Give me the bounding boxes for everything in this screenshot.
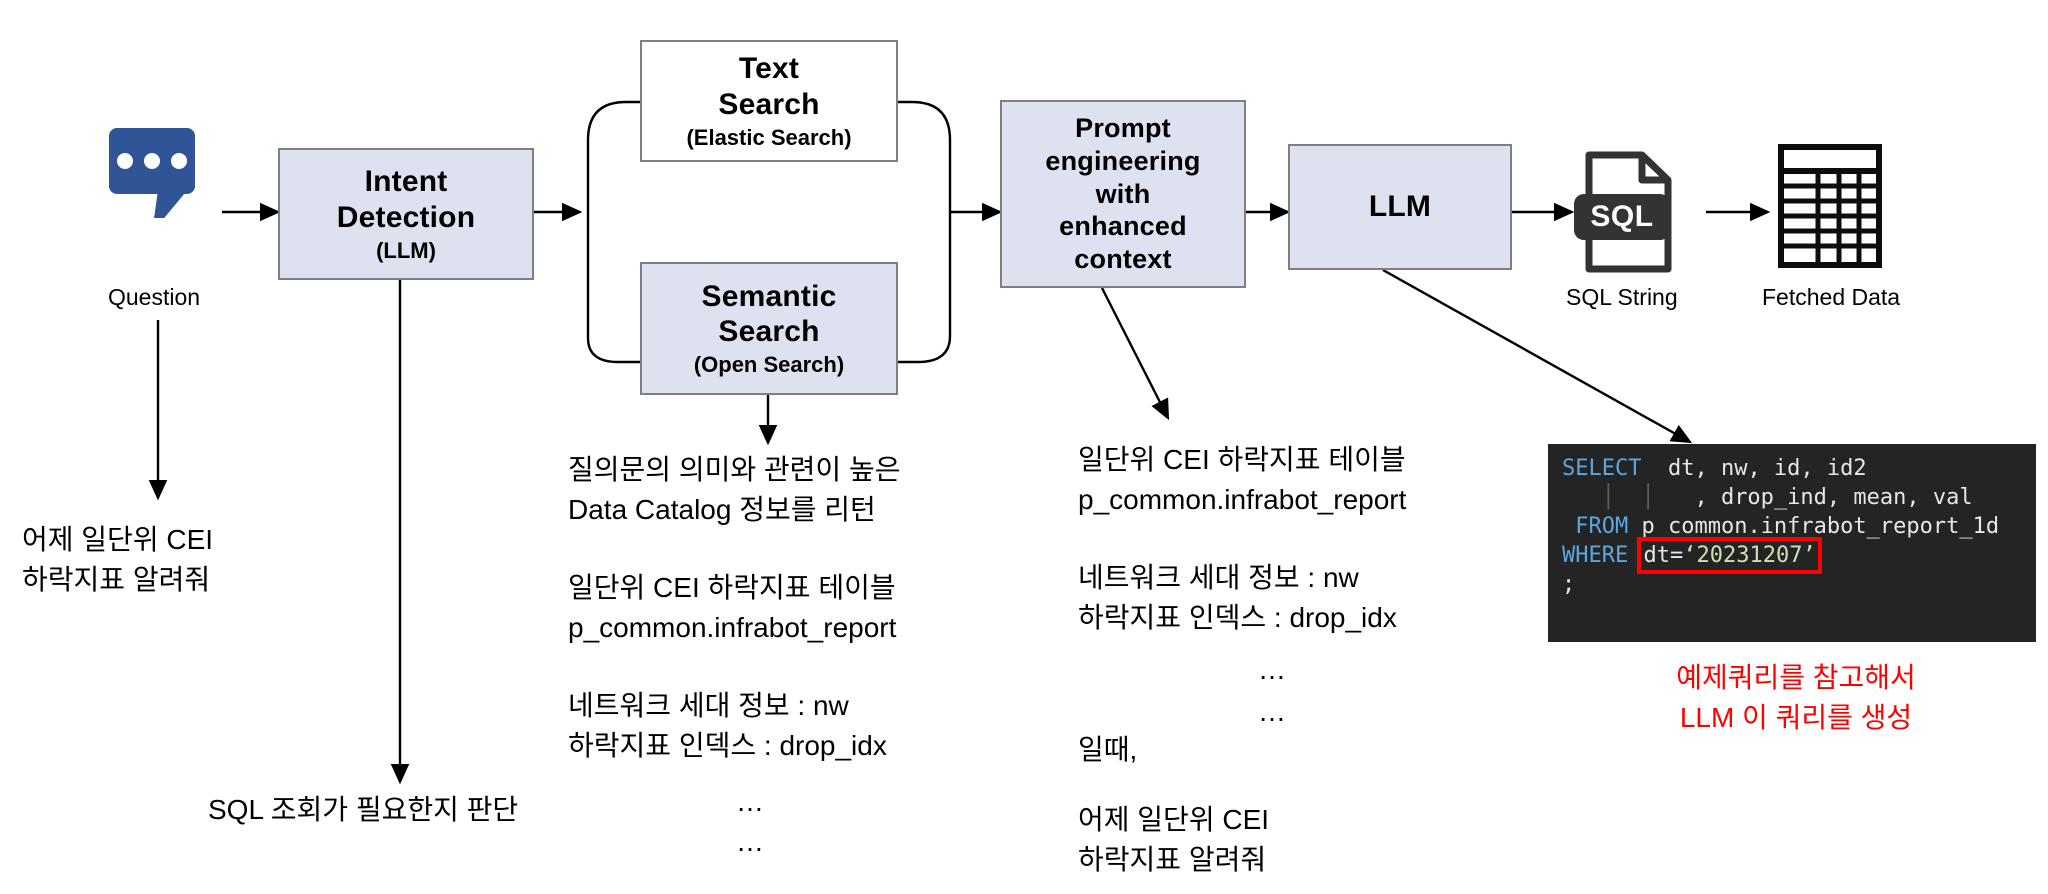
node-text-search-subtitle: (Elastic Search) bbox=[686, 125, 851, 151]
node-semantic-search-subtitle: (Open Search) bbox=[694, 352, 844, 378]
annotation-prompt-ellipsis-1: … bbox=[1258, 650, 1286, 690]
code-keyword-from: FROM bbox=[1562, 514, 1628, 539]
code-line5: ; bbox=[1562, 572, 1575, 597]
node-semantic-search-title: Semantic Search bbox=[702, 279, 837, 350]
diagram-canvas: Question Intent Detection (LLM) Text Sea… bbox=[0, 0, 2048, 894]
node-llm-title: LLM bbox=[1369, 189, 1431, 224]
annotation-prompt-note-4: 어제 일단위 CEI 하락지표 알려줘 bbox=[1078, 800, 1269, 880]
code-keyword-select: SELECT bbox=[1562, 456, 1641, 481]
annotation-search-ellipsis-1: … bbox=[736, 782, 764, 822]
annotation-prompt-note-1: 일단위 CEI 하락지표 테이블 p_common.infrabot_repor… bbox=[1078, 440, 1406, 520]
node-text-search-title: Text Search bbox=[718, 51, 819, 122]
node-prompt-engineering[interactable]: Prompt engineering with enhanced context bbox=[1000, 100, 1246, 288]
code-line2-rest: , drop_ind, mean, val bbox=[1655, 485, 1973, 510]
annotation-code-caption: 예제쿼리를 참고해서 LLM 이 쿼리를 생성 bbox=[1600, 658, 1992, 738]
annotation-prompt-note-2: 네트워크 세대 정보 : nw 하락지표 인덱스 : drop_idx bbox=[1078, 558, 1397, 638]
annotation-search-ellipsis-2: … bbox=[736, 822, 764, 862]
node-intent-detection[interactable]: Intent Detection (LLM) bbox=[278, 148, 534, 280]
node-intent-title: Intent Detection bbox=[337, 164, 476, 235]
table-data-icon bbox=[1778, 144, 1882, 268]
code-line3-rest: p_common.infrabot_report_1d bbox=[1628, 514, 1999, 539]
annotation-intent-note: SQL 조회가 필요한지 판단 bbox=[208, 790, 518, 830]
sql-string-label: SQL String bbox=[1566, 284, 1678, 311]
code-keyword-where: WHERE bbox=[1562, 543, 1628, 568]
sql-badge-label: SQL bbox=[1574, 194, 1670, 240]
annotation-question-text: 어제 일단위 CEI 하락지표 알려줘 bbox=[22, 520, 213, 600]
question-label: Question bbox=[108, 284, 200, 311]
sql-file-icon: SQL bbox=[1580, 150, 1676, 274]
fetched-data-label: Fetched Data bbox=[1762, 284, 1900, 311]
code-where-column: dt= bbox=[1643, 543, 1683, 568]
code-line1-rest: dt, nw, id, id2 bbox=[1641, 456, 1866, 481]
table-grid bbox=[1778, 144, 1882, 268]
annotation-search-note-3: 네트워크 세대 정보 : nw 하락지표 인덱스 : drop_idx bbox=[568, 686, 887, 766]
sql-code-block: SELECT dt, nw, id, id2 │ │ , drop_ind, m… bbox=[1548, 444, 2036, 642]
code-where-value: ‘20231207’ bbox=[1683, 543, 1815, 568]
node-text-search[interactable]: Text Search (Elastic Search) bbox=[640, 40, 898, 162]
annotation-prompt-ellipsis-2: … bbox=[1258, 692, 1286, 732]
annotation-search-note-1: 질의문의 의미와 관련이 높은 Data Catalog 정보를 리턴 bbox=[568, 450, 900, 530]
bubble-dots bbox=[109, 128, 195, 194]
annotation-search-note-2: 일단위 CEI 하락지표 테이블 p_common.infrabot_repor… bbox=[568, 568, 896, 648]
bubble-tail bbox=[154, 192, 186, 218]
sql-date-highlight: dt=‘20231207’ bbox=[1641, 541, 1817, 570]
node-llm[interactable]: LLM bbox=[1288, 144, 1512, 270]
annotation-prompt-note-3: 일때, bbox=[1078, 730, 1137, 770]
node-intent-subtitle: (LLM) bbox=[376, 238, 436, 264]
code-line2-gutter: │ │ bbox=[1562, 485, 1655, 510]
node-prompt-title: Prompt engineering with enhanced context bbox=[1045, 112, 1200, 277]
node-semantic-search[interactable]: Semantic Search (Open Search) bbox=[640, 262, 898, 395]
question-bubble-icon bbox=[109, 128, 195, 194]
